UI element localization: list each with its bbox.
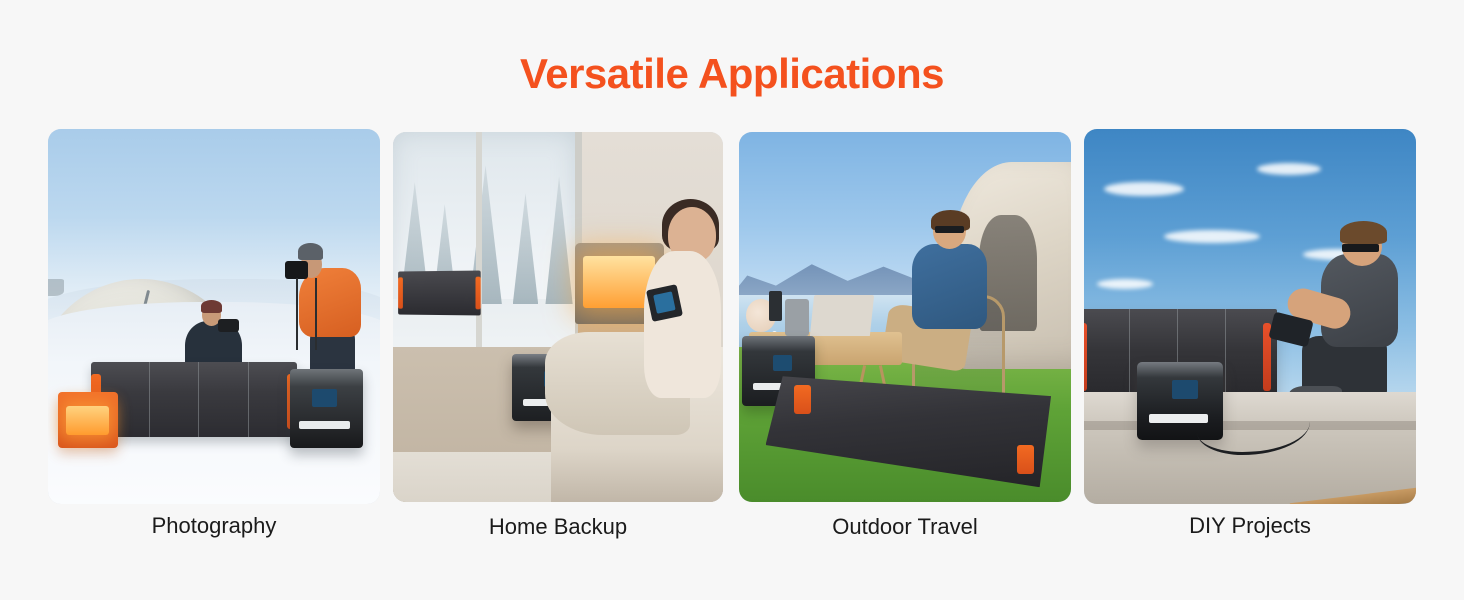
application-card-outdoor-travel[interactable]: Outdoor Travel — [739, 132, 1071, 502]
diy-projects-scene-image[interactable] — [1084, 129, 1416, 504]
body — [644, 251, 722, 399]
tripod — [296, 278, 317, 351]
photography-scene-image[interactable] — [48, 129, 380, 504]
beanie-hat — [201, 300, 222, 312]
camera — [218, 319, 239, 331]
beanie-hat — [298, 243, 323, 260]
man-relaxing — [905, 213, 998, 391]
panel-handle — [1017, 445, 1034, 474]
camera — [285, 261, 307, 279]
portable-heater — [58, 392, 118, 448]
home-backup-scene-image[interactable] — [393, 132, 723, 502]
panel-seam — [198, 362, 199, 437]
panel-handle — [398, 277, 403, 308]
application-card-home-backup[interactable]: Home Backup — [393, 132, 723, 502]
panel-handle — [476, 277, 481, 310]
sunglasses — [935, 226, 965, 233]
power-station-display — [1172, 380, 1198, 399]
application-card-photography[interactable]: Photography — [48, 129, 380, 504]
power-station-display — [312, 389, 337, 406]
panel-handle — [794, 385, 811, 414]
power-station-display — [773, 355, 792, 370]
hair — [1340, 221, 1388, 244]
sunglasses — [1342, 244, 1379, 252]
moka-pot — [785, 299, 808, 336]
snowy-tree — [513, 193, 538, 304]
power-station-light-bar — [299, 421, 350, 429]
cloud — [1097, 279, 1153, 289]
cloud — [1104, 182, 1184, 196]
smartphone-on-stand — [769, 291, 782, 321]
card-caption-diy-projects: DIY Projects — [1044, 513, 1456, 539]
panel-handle — [1084, 323, 1087, 391]
woman-on-bed — [631, 199, 723, 399]
heater-glow — [66, 406, 109, 435]
versatile-applications-section: Versatile Applications — [0, 0, 1464, 600]
wooden-beam — [1290, 483, 1416, 504]
application-card-diy-projects[interactable]: DIY Projects — [1084, 129, 1416, 504]
panel-seam — [149, 362, 150, 437]
folding-solar-panel — [398, 270, 481, 315]
portable-power-station — [290, 369, 363, 448]
snowy-tree — [545, 176, 572, 304]
laptop — [810, 295, 874, 336]
outdoor-travel-scene-image[interactable] — [739, 132, 1071, 502]
application-card-grid: Photography — [0, 0, 1464, 600]
folding-solar-panel — [91, 362, 297, 437]
device-screen — [653, 291, 676, 314]
cloud — [1257, 163, 1321, 175]
denim-jacket — [912, 244, 986, 329]
tent-door — [48, 279, 64, 296]
panel-seam — [248, 362, 249, 437]
